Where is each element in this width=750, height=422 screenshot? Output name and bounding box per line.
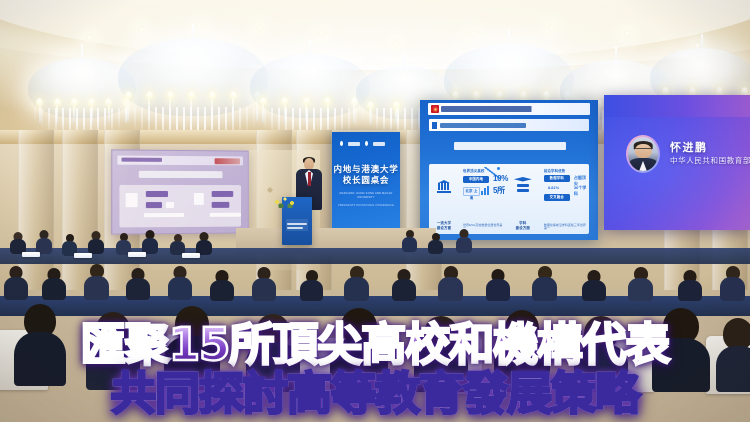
delegate	[10, 232, 26, 254]
infographic-column-3: 学科 建设方面	[506, 164, 540, 234]
moe-banner-text	[441, 106, 587, 112]
delegate	[4, 266, 28, 300]
left-screen-header	[117, 156, 243, 166]
delegate	[402, 230, 417, 252]
delegate	[486, 269, 510, 301]
slide-infographic: 一流大学 建设方面 世界顶尖高校 中国内地 10% 北京·上海 5所 世界ESG…	[429, 164, 589, 234]
downlight	[86, 34, 93, 41]
metric-pill-1: 中国内地	[463, 176, 489, 183]
delegate	[678, 270, 702, 301]
crystal-chandelier	[250, 40, 370, 132]
infographic-column-1: 一流大学 建设方面	[429, 164, 459, 234]
delegate	[582, 270, 606, 301]
delegate	[252, 267, 276, 301]
delegate	[532, 266, 557, 301]
speaker-name: 怀进鹏	[670, 139, 708, 155]
metric-value-3: 8.81%	[548, 185, 559, 190]
delegate	[210, 270, 234, 301]
metric-pill-3: 数理学科	[544, 175, 570, 182]
delegate	[170, 234, 185, 255]
podium-title-line2: 校长圆桌会	[343, 175, 390, 185]
delegate	[344, 266, 369, 301]
column-3-caption-line1: 学科	[519, 221, 526, 225]
slide-title-bar	[429, 119, 589, 131]
column-1-caption-line1: 一流大学	[437, 221, 451, 225]
delegate	[300, 270, 323, 301]
delegate	[428, 233, 443, 254]
podium-english-line2: PRESIDENTS ROUNDTABLE CONFERENCE	[335, 204, 397, 207]
podium-title: 内地与港澳大学 校长圆桌会	[332, 164, 400, 186]
delegate	[36, 230, 52, 254]
delegate	[392, 269, 416, 301]
podium-english-line1: MAINLAND, HONG KONG AND MACAO UNIVERSITY	[336, 192, 396, 200]
bank-icon	[437, 180, 451, 193]
downlight	[318, 30, 325, 37]
infographic-column-2: 世界顶尖高校 中国内地 10% 北京·上海 5所 世界ESG高校数量位居世界第二	[459, 164, 506, 234]
delegate	[456, 229, 472, 253]
delegate	[42, 268, 66, 300]
delegate	[88, 231, 104, 254]
national-emblem-icon	[431, 105, 439, 113]
metric-value-2: 5所	[493, 185, 505, 196]
slide-subtitle-bar	[454, 142, 566, 150]
avatar-glasses-icon	[635, 148, 651, 152]
headline-line-1-segment-1: 匯聚	[81, 322, 169, 367]
podium-title-line1: 内地与港澳大学	[333, 164, 398, 174]
headline-overlay: 匯聚15所頂尖高校和機構代表 共同探討高等教育發展策略	[0, 322, 750, 416]
flower-arrangement	[272, 194, 298, 208]
left-screen-subtitle	[139, 171, 223, 178]
infographic-column-4: 前沿学科优势 数理学科 占据顶尖 8.81% 36个学科 交叉融合 数理化等前沿…	[540, 164, 589, 234]
name-card	[74, 253, 92, 258]
name-card	[22, 252, 40, 257]
headline-line-2-text: 共同探討高等教育發展策略	[111, 371, 639, 416]
delegate	[142, 230, 158, 254]
podium-logo-row	[340, 141, 385, 146]
metric-group-head-2: 前沿学科优势	[544, 168, 566, 173]
delegate	[84, 264, 109, 300]
left-screen-panel	[119, 185, 241, 228]
delegate	[628, 267, 653, 301]
crystal-chandelier	[118, 24, 268, 136]
name-card	[128, 252, 146, 257]
main-presentation-screen: 一流大学 建设方面 世界顶尖高校 中国内地 10% 北京·上海 5所 世界ESG…	[420, 100, 598, 240]
avatar	[626, 135, 660, 173]
speaker-organization: 中华人民共和国教育部	[670, 155, 750, 166]
name-card	[182, 253, 200, 258]
downlight	[392, 40, 399, 47]
downlight	[624, 30, 631, 37]
headline-line-2: 共同探討高等教育發展策略	[0, 371, 750, 416]
headline-line-1: 匯聚15所頂尖高校和機構代表	[0, 322, 750, 367]
metric-unit-4: 36个学科	[574, 185, 589, 197]
conference-table	[0, 248, 750, 264]
metric-group-head-1: 世界顶尖高校	[463, 168, 485, 173]
bar-chart-icon	[481, 186, 489, 195]
speaker-tie	[308, 172, 311, 186]
delegate	[168, 266, 192, 300]
headline-line-1-segment-2: 15所頂尖高校和機構代表	[169, 322, 670, 367]
slide-title-marker	[432, 122, 437, 129]
graduation-cap-icon	[514, 177, 532, 193]
delegate	[196, 232, 212, 255]
right-screen-top-band	[604, 95, 750, 117]
delegate	[438, 266, 463, 301]
metric-pill-2a: 北京·上海	[463, 187, 480, 196]
moe-banner	[428, 103, 590, 115]
left-projection-screen	[111, 149, 249, 234]
screenshot-root: 内地与港澳大学 校长圆桌会 MAINLAND, HONG KONG AND MA…	[0, 0, 750, 422]
metric-pill-4: 交叉融合	[544, 194, 570, 201]
delegate	[720, 266, 745, 301]
slide-title-text	[440, 123, 526, 128]
right-speaker-screen: 怀进鹏 中华人民共和国教育部	[604, 95, 750, 230]
delegate	[126, 268, 150, 300]
